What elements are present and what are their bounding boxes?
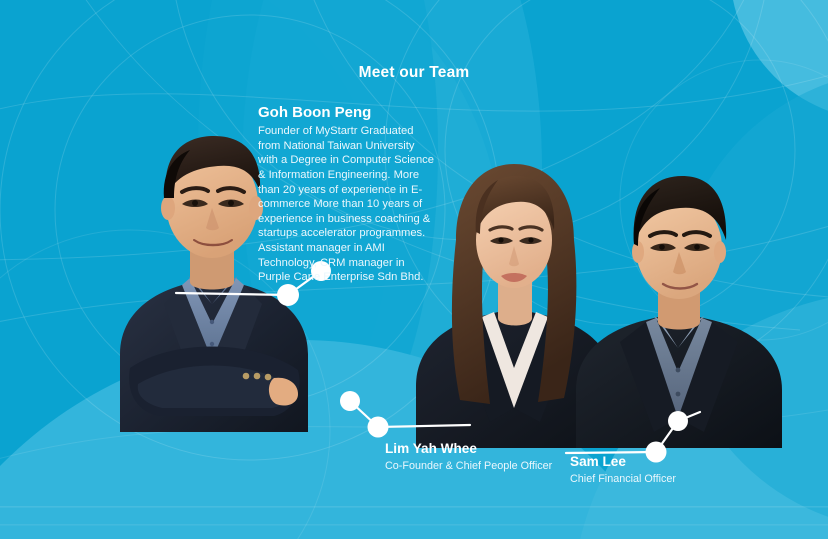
member-card-lim-yah-whee: Lim Yah Whee Co-Founder & Chief People O…	[385, 441, 565, 473]
page-title: Meet our Team	[0, 64, 828, 82]
member-card-goh-boon-peng: Goh Boon Peng Founder of MyStartr Gradua…	[258, 104, 434, 285]
member-name: Lim Yah Whee	[385, 441, 565, 457]
member-name: Goh Boon Peng	[258, 104, 434, 121]
member-role: Co-Founder & Chief People Officer	[385, 459, 565, 473]
text-content: Meet our Team Goh Boon Peng Founder of M…	[0, 0, 828, 539]
team-slide: Meet our Team Goh Boon Peng Founder of M…	[0, 0, 828, 539]
member-role: Founder of MyStartr Graduated from Natio…	[258, 124, 434, 285]
member-card-sam-lee: Sam Lee Chief Financial Officer	[570, 454, 760, 486]
member-role: Chief Financial Officer	[570, 472, 760, 486]
member-name: Sam Lee	[570, 454, 760, 470]
